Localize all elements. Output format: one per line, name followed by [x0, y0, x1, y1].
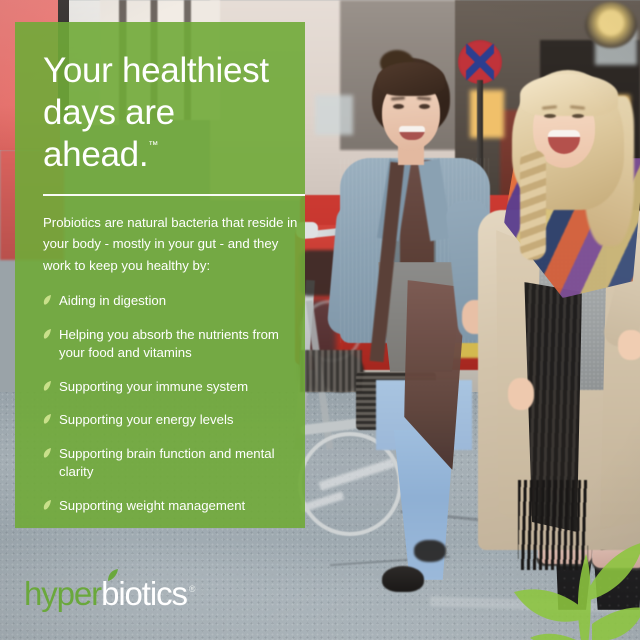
- body-paragraph: Probiotics are natural bacteria that res…: [43, 212, 301, 276]
- list-item: Supporting brain function and mental cla…: [43, 445, 283, 482]
- right-woman-hair-fringe: [520, 74, 618, 116]
- eye: [393, 104, 404, 109]
- list-item: Supporting your energy levels: [43, 411, 283, 429]
- brand-logo[interactable]: hyperbiotics ®: [24, 577, 196, 610]
- leaf-sprout-icon: [103, 568, 119, 584]
- lit-window: [470, 90, 504, 138]
- headline-line-2: days are ahead.: [43, 93, 175, 174]
- list-item-label: Supporting your immune system: [59, 379, 248, 394]
- list-item: Supporting your immune system: [43, 378, 283, 396]
- bicycle-rack: [300, 350, 362, 392]
- eye: [419, 104, 430, 109]
- right-woman-braid: [520, 150, 546, 260]
- right-woman-hand: [508, 378, 534, 410]
- trademark-symbol: ™: [148, 140, 158, 151]
- registered-trademark-symbol: ®: [189, 577, 196, 594]
- left-woman-hair-front: [377, 62, 445, 96]
- eye: [572, 114, 584, 118]
- list-item-label: Supporting your energy levels: [59, 412, 233, 427]
- leaf-bullet-icon: [43, 448, 52, 459]
- page-title: Your healthiest days are ahead.™: [29, 40, 283, 176]
- headline-line-1: Your healthiest: [43, 51, 269, 90]
- list-item-label: Supporting brain function and mental cla…: [59, 446, 275, 479]
- leaf-bullet-icon: [43, 500, 52, 511]
- right-woman-hand: [618, 330, 640, 360]
- leaf-bullet-icon: [43, 295, 52, 306]
- left-woman-shoe: [414, 540, 446, 562]
- leaf-bullet-icon: [43, 414, 52, 425]
- street-lamp-globe: [585, 2, 637, 48]
- left-woman-shoe: [382, 566, 424, 592]
- leaf-bullet-icon: [43, 329, 52, 340]
- list-item: Aiding in digestion: [43, 292, 283, 310]
- divider-rule: [43, 194, 305, 196]
- window: [315, 95, 353, 135]
- advertisement-canvas: Your healthiest days are ahead.™ Probiot…: [0, 0, 640, 640]
- logo-text-hyper: hyper: [24, 575, 101, 612]
- benefits-list: Aiding in digestion Helping you absorb t…: [43, 292, 283, 515]
- leaf-sprig-graphic: [496, 528, 640, 640]
- green-content-panel: Your healthiest days are ahead.™ Probiot…: [15, 22, 305, 528]
- list-item-label: Supporting weight management: [59, 498, 245, 513]
- list-item-label: Aiding in digestion: [59, 293, 166, 308]
- list-item: Helping you absorb the nutrients from yo…: [43, 326, 283, 363]
- sign-cross: [466, 44, 494, 80]
- list-item: Supporting weight management: [43, 497, 283, 515]
- eye: [544, 114, 556, 118]
- leaf-bullet-icon: [43, 381, 52, 392]
- list-item-label: Helping you absorb the nutrients from yo…: [59, 327, 279, 360]
